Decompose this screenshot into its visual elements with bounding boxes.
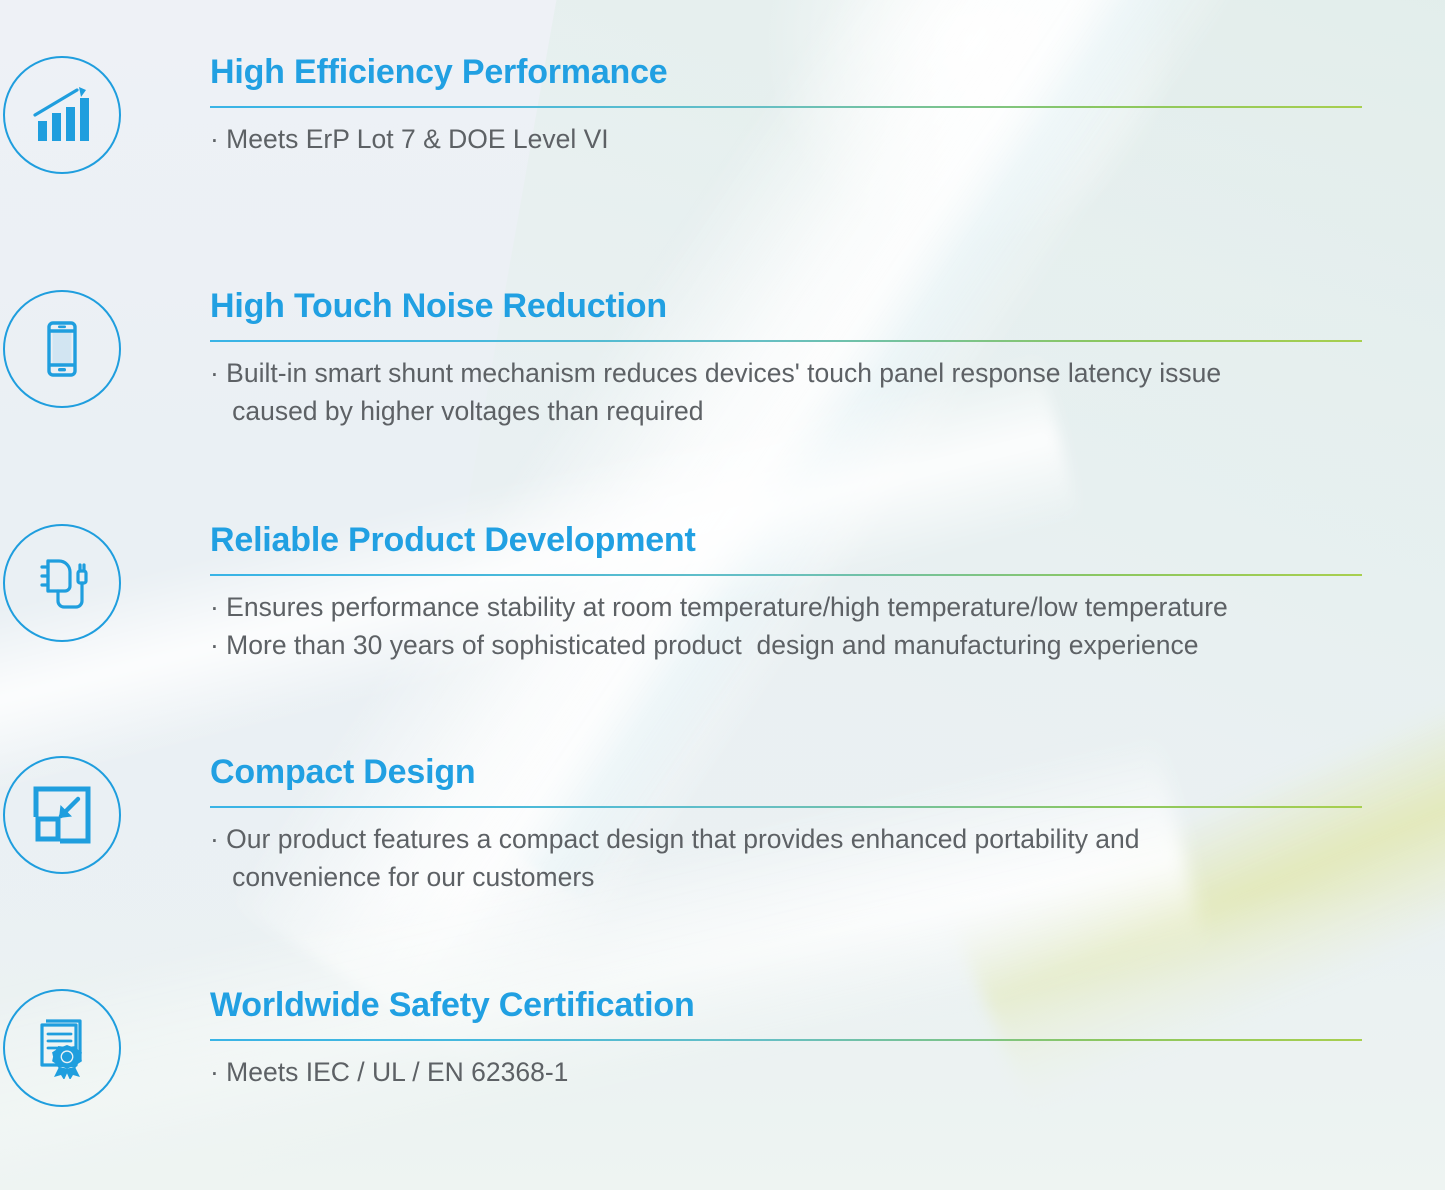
- icon-circle: [3, 524, 121, 642]
- feature-text-block: Worldwide Safety Certification · Meets I…: [124, 985, 1362, 1091]
- feature-icon-container: [0, 520, 124, 642]
- feature-bullet-line: · Meets IEC / UL / EN 62368-1: [210, 1053, 1362, 1091]
- feature-text-block: Compact Design · Our product features a …: [124, 752, 1362, 896]
- feature-highlights-page: High Efficiency Performance · Meets ErP …: [0, 0, 1445, 1190]
- feature-divider: [210, 106, 1362, 108]
- feature-bullets: · Our product features a compact design …: [210, 820, 1362, 896]
- feature-divider: [210, 574, 1362, 576]
- smartphone-icon: [30, 317, 94, 381]
- feature-item-reliable-product-development: Reliable Product Development · Ensures p…: [0, 520, 1362, 664]
- compact-resize-icon: [31, 784, 93, 846]
- feature-bullet-line: · More than 30 years of sophisticated pr…: [210, 626, 1362, 664]
- feature-divider: [210, 1039, 1362, 1041]
- feature-icon-container: [0, 985, 124, 1107]
- feature-title: High Efficiency Performance: [210, 52, 1362, 92]
- feature-divider: [210, 340, 1362, 342]
- feature-icon-container: [0, 286, 124, 408]
- feature-item-high-touch-noise-reduction: High Touch Noise Reduction · Built-in sm…: [0, 286, 1362, 430]
- icon-circle: [3, 756, 121, 874]
- feature-bullets: · Built-in smart shunt mechanism reduces…: [210, 354, 1362, 430]
- feature-item-compact-design: Compact Design · Our product features a …: [0, 752, 1362, 896]
- feature-text-block: High Efficiency Performance · Meets ErP …: [124, 52, 1362, 158]
- feature-title: High Touch Noise Reduction: [210, 286, 1362, 326]
- certificate-seal-icon: [31, 1017, 93, 1079]
- feature-bullets: · Meets ErP Lot 7 & DOE Level VI: [210, 120, 1362, 158]
- feature-bullets: · Ensures performance stability at room …: [210, 588, 1362, 664]
- feature-text-block: Reliable Product Development · Ensures p…: [124, 520, 1362, 664]
- icon-circle: [3, 290, 121, 408]
- feature-item-high-efficiency-performance: High Efficiency Performance · Meets ErP …: [0, 52, 1362, 174]
- icon-circle: [3, 56, 121, 174]
- feature-title: Reliable Product Development: [210, 520, 1362, 560]
- feature-title: Worldwide Safety Certification: [210, 985, 1362, 1025]
- feature-divider: [210, 806, 1362, 808]
- feature-icon-container: [0, 52, 124, 174]
- feature-bullet-line: · Our product features a compact design …: [210, 820, 1362, 896]
- power-adapter-icon: [28, 549, 96, 617]
- icon-circle: [3, 989, 121, 1107]
- feature-title: Compact Design: [210, 752, 1362, 792]
- feature-bullet-line: · Meets ErP Lot 7 & DOE Level VI: [210, 120, 1362, 158]
- bar-chart-growth-icon: [30, 83, 94, 147]
- feature-bullets: · Meets IEC / UL / EN 62368-1: [210, 1053, 1362, 1091]
- feature-icon-container: [0, 752, 124, 874]
- feature-bullet-line: · Ensures performance stability at room …: [210, 588, 1362, 626]
- feature-item-worldwide-safety-certification: Worldwide Safety Certification · Meets I…: [0, 985, 1362, 1107]
- feature-text-block: High Touch Noise Reduction · Built-in sm…: [124, 286, 1362, 430]
- feature-bullet-line: · Built-in smart shunt mechanism reduces…: [210, 354, 1362, 430]
